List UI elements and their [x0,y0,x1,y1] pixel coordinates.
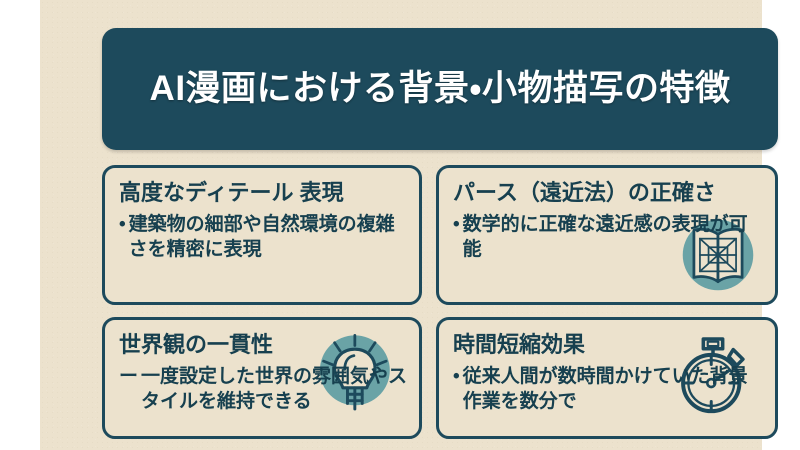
card-detail: 高度なディテール 表現 • 建築物の細部や自然環境の複雑さを精密に表現 [102,165,422,305]
page-title: AI漫画における背景・小物描写の特徴 [150,68,731,110]
bullet-marker-icon: ー [119,364,138,414]
card-detail-heading: 高度なディテール 表現 [119,180,409,205]
card-detail-bullet: • 建築物の細部や自然環境の複雑さを精密に表現 [119,212,409,262]
card-consistency-content: 世界観の一貫性 ー 一度設定した世界の雰囲気やスタイルを維持できる [105,320,419,436]
card-time-saving-heading: 時間短縮効果 [453,332,765,357]
card-consistency: 世界観の一貫性 ー 一度設定した世界の雰囲気やスタイルを維持できる [102,317,422,439]
card-perspective-content: パース（遠近法）の正確さ • 数学的に正確な遠近感の表現が可能 [439,168,775,302]
bullet-marker-icon: • [453,364,460,414]
slide-canvas: AI漫画における背景・小物描写の特徴 高度なディテール 表現 • 建築物の細部や… [40,0,762,450]
card-consistency-heading: 世界観の一貫性 [119,332,409,357]
slide-root: AI漫画における背景・小物描写の特徴 高度なディテール 表現 • 建築物の細部や… [0,0,800,450]
card-time-saving-bullet: • 従来人間が数時間かけていた背景作業を数分で [453,364,765,414]
card-detail-bullet-text: 建築物の細部や自然環境の複雑さを精密に表現 [129,212,409,262]
card-perspective-bullet: • 数学的に正確な遠近感の表現が可能 [453,212,765,262]
card-detail-content: 高度なディテール 表現 • 建築物の細部や自然環境の複雑さを精密に表現 [105,168,419,302]
title-banner: AI漫画における背景・小物描写の特徴 [102,28,778,150]
bullet-marker-icon: • [453,212,460,262]
bullet-marker-icon: • [119,212,126,262]
card-perspective: パース（遠近法）の正確さ • 数学的に正確な遠近感の表現が可能 [436,165,778,305]
card-time-saving-bullet-text: 従来人間が数時間かけていた背景作業を数分で [463,364,765,414]
card-perspective-heading: パース（遠近法）の正確さ [453,180,765,205]
card-consistency-bullet: ー 一度設定した世界の雰囲気やスタイルを維持できる [119,364,409,414]
card-consistency-bullet-text: 一度設定した世界の雰囲気やスタイルを維持できる [141,364,409,414]
card-time-saving: 時間短縮効果 • 従来人間が数時間かけていた背景作業を数分で [436,317,778,439]
card-time-saving-content: 時間短縮効果 • 従来人間が数時間かけていた背景作業を数分で [439,320,775,436]
card-perspective-bullet-text: 数学的に正確な遠近感の表現が可能 [463,212,765,262]
